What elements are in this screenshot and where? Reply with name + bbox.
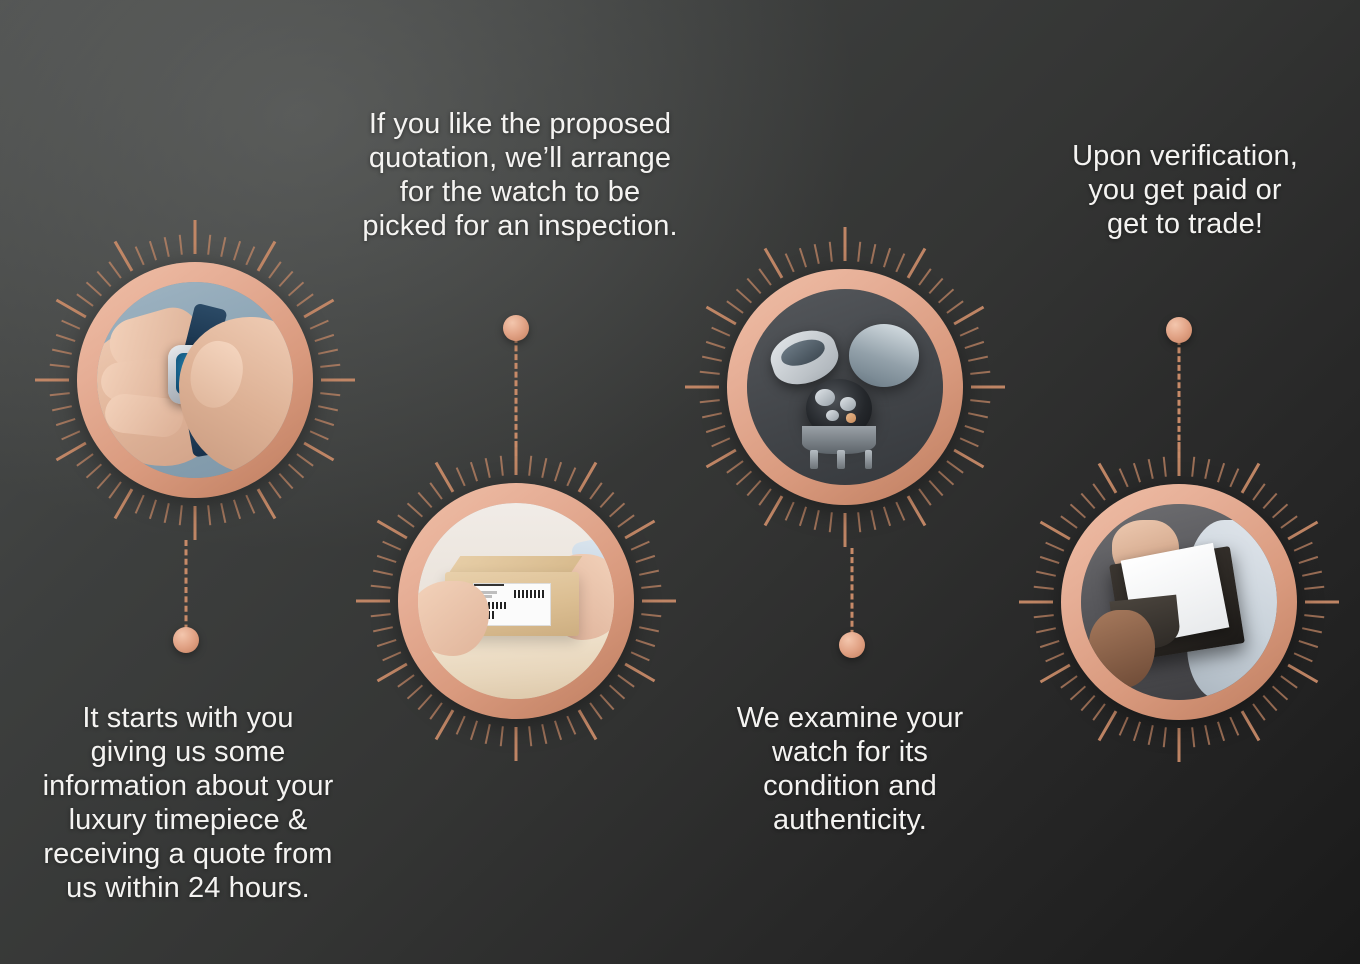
- step-4-caption: Upon verification, you get paid or get t…: [1015, 140, 1355, 242]
- step-4-node: [1002, 425, 1356, 779]
- step-3-connector: [839, 548, 865, 645]
- step-1-node: GP: [18, 203, 372, 557]
- step-4-image: [1081, 504, 1277, 700]
- step-3-image: [747, 289, 943, 485]
- step-1-caption: It starts with you giving us some inform…: [12, 702, 364, 906]
- infographic-canvas: GP It starts with you giving us some inf…: [0, 0, 1360, 964]
- step-2-node: [339, 424, 693, 778]
- step-1-connector: [173, 540, 199, 640]
- step-2-caption: If you like the proposed quotation, we’l…: [335, 108, 705, 244]
- step-3-caption: We examine your watch for its condition …: [700, 702, 1000, 838]
- step-2-image: [418, 503, 614, 699]
- step-1-image: GP: [97, 282, 293, 478]
- step-3-node: [668, 210, 1022, 564]
